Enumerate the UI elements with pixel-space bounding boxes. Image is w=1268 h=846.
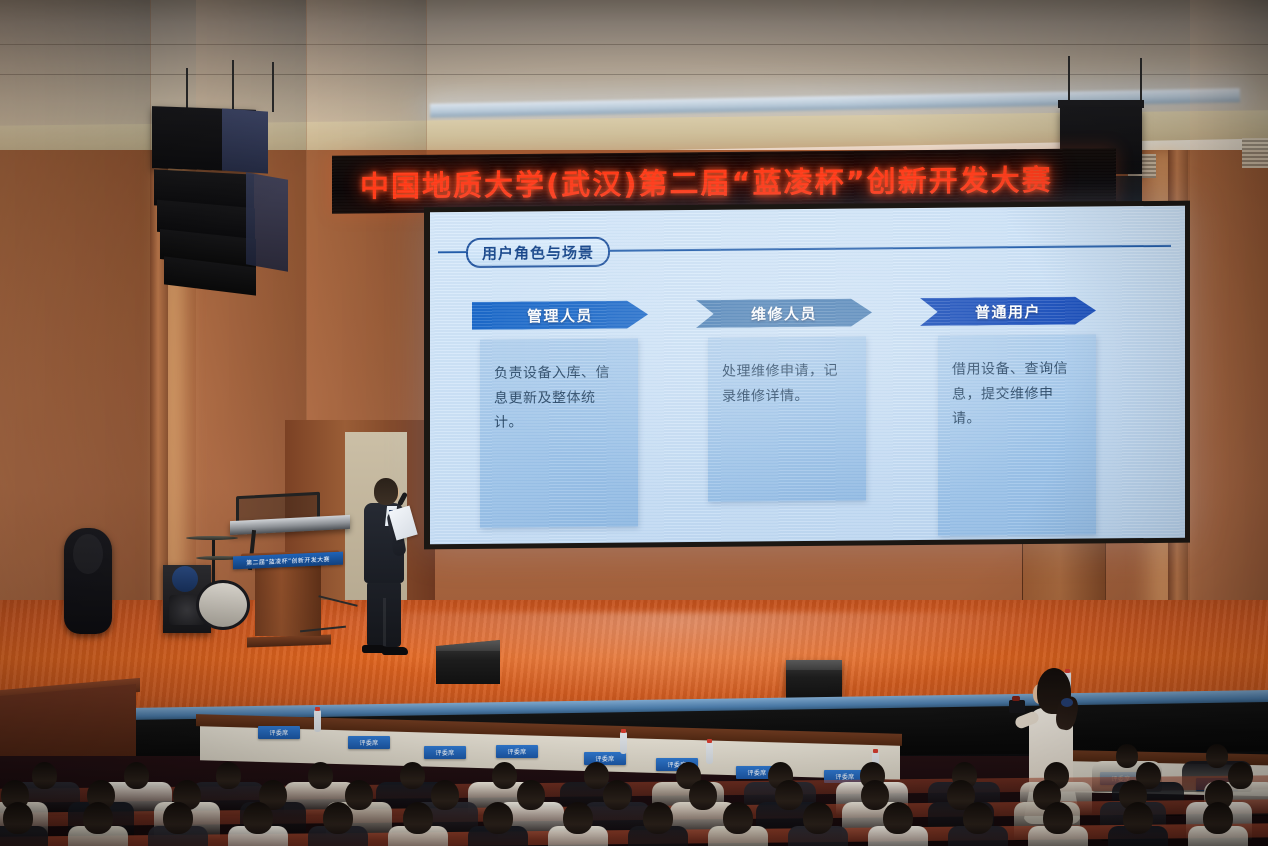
column-body-admin: 负责设备入库、信息更新及整体统计。 xyxy=(494,361,624,436)
column-header-maintenance: 维修人员 xyxy=(696,298,872,328)
audience-head xyxy=(563,802,593,834)
stage-monitor-speaker xyxy=(786,660,842,698)
bass-drum xyxy=(196,580,250,630)
slide-column: 维修人员 处理维修申请，记录维修详情。 xyxy=(696,298,872,515)
column-header-admin: 管理人员 xyxy=(472,300,648,330)
cymbal xyxy=(186,536,238,540)
audience-member xyxy=(626,800,692,846)
presenter xyxy=(356,478,412,656)
audience-head xyxy=(723,802,753,834)
presenter-leg-split xyxy=(383,598,386,646)
column-header-user: 普通用户 xyxy=(920,296,1096,326)
water-bottle xyxy=(314,710,321,732)
audience-member xyxy=(1106,800,1172,846)
audience-member xyxy=(706,800,772,846)
stage-floor-reflection xyxy=(300,612,1060,702)
speaker-rigging-cable xyxy=(232,60,234,112)
water-bottle xyxy=(620,732,627,754)
audience-head xyxy=(83,802,113,834)
presenter-shoe xyxy=(382,647,408,655)
audience-head xyxy=(243,802,273,834)
column-card-user: 借用设备、查询信息，提交维修申请。 xyxy=(938,334,1096,535)
audience-member xyxy=(306,800,372,846)
slide-columns: 管理人员 负责设备入库、信息更新及整体统计。 维修人员 处理维修申请，记录维修详… xyxy=(472,296,1148,517)
audience-head xyxy=(643,802,673,834)
name-placard: 评委席 xyxy=(348,736,390,749)
audience-head xyxy=(3,802,33,834)
speaker-rigging-cable xyxy=(272,62,274,112)
podium: 第二届“蓝凌杯”创新开发大赛 xyxy=(247,552,333,648)
auditorium-photo: 中国地质大学(武汉)第二届“蓝凌杯”创新开发大赛 用户角色与场景 管理人员 负责… xyxy=(0,0,1268,846)
audience-member xyxy=(1026,800,1092,846)
title-rule-right xyxy=(608,245,1171,252)
slide-title: 用户角色与场景 xyxy=(466,237,610,268)
name-placard: 评委席 xyxy=(424,746,466,759)
guitar-case xyxy=(64,528,112,634)
audience-member xyxy=(0,800,52,846)
ceiling-seam xyxy=(0,74,1268,75)
audience-head xyxy=(1123,802,1153,834)
audience-head xyxy=(883,802,913,834)
slide-title-row: 用户角色与场景 xyxy=(430,232,1185,265)
speaker-rigging-bar xyxy=(1058,100,1144,108)
ceiling-seam xyxy=(0,44,1268,45)
air-vent xyxy=(1242,138,1268,168)
column-card-admin: 负责设备入库、信息更新及整体统计。 xyxy=(480,338,638,527)
audience-head xyxy=(803,802,833,834)
presenter-head xyxy=(374,478,398,505)
audience-member xyxy=(386,800,452,846)
audience-member xyxy=(786,800,852,846)
audience-head xyxy=(483,802,513,834)
hair-tie xyxy=(1061,698,1073,707)
audience-member xyxy=(226,800,292,846)
tom-drum xyxy=(172,566,198,592)
audience-head xyxy=(963,802,993,834)
name-placard: 评委席 xyxy=(258,726,300,739)
projection-screen: 用户角色与场景 管理人员 负责设备入库、信息更新及整体统计。 维修人员 处理维修… xyxy=(424,201,1190,550)
audience-head xyxy=(323,802,353,834)
audience-head xyxy=(1043,802,1073,834)
audience-member xyxy=(1186,800,1252,846)
presentation-slide: 用户角色与场景 管理人员 负责设备入库、信息更新及整体统计。 维修人员 处理维修… xyxy=(430,206,1185,545)
audience-member xyxy=(946,800,1012,846)
line-array-speaker-module xyxy=(246,172,288,271)
slide-column: 管理人员 负责设备入库、信息更新及整体统计。 xyxy=(472,300,648,517)
stage-monitor-speaker xyxy=(436,640,500,684)
column-body-maintenance: 处理维修申请，记录维修详情。 xyxy=(722,359,852,409)
audience-member xyxy=(66,800,132,846)
audience-member xyxy=(546,800,612,846)
audience-head xyxy=(1203,802,1233,834)
camera xyxy=(1009,700,1025,713)
audience-head xyxy=(403,802,433,834)
column-body-user: 借用设备、查询信息，提交维修申请。 xyxy=(952,357,1082,432)
audience-member xyxy=(146,800,212,846)
podium-base xyxy=(247,635,331,648)
audience-member xyxy=(466,800,532,846)
audience-member xyxy=(866,800,932,846)
monitor-grille xyxy=(786,660,842,670)
podium-body xyxy=(255,564,321,636)
line-array-speaker-module xyxy=(222,108,268,173)
name-placard: 评委席 xyxy=(496,745,538,758)
audience-head xyxy=(163,802,193,834)
slide-column: 普通用户 借用设备、查询信息，提交维修申请。 xyxy=(920,296,1096,513)
column-card-maintenance: 处理维修申请，记录维修详情。 xyxy=(708,336,866,501)
led-banner-text: 中国地质大学(武汉)第二届“蓝凌杯”创新开发大赛 xyxy=(360,157,1053,206)
speaker-rigging-cable xyxy=(186,68,188,112)
